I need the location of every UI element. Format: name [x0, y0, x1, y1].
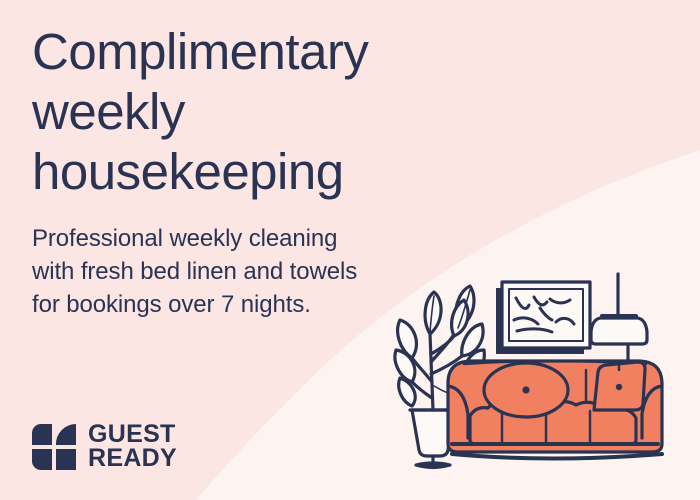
promo-banner: Complimentary weekly housekeeping Profes…: [0, 0, 700, 500]
round-cushion-icon: [484, 363, 568, 417]
guestready-wordmark: GUEST READY: [88, 423, 177, 470]
logo-line-2: READY: [88, 447, 177, 471]
guestready-square-mark-icon: [32, 424, 76, 470]
guestready-logo: GUEST READY: [32, 423, 177, 470]
page-title: Complimentary weekly housekeeping: [32, 22, 502, 202]
framed-picture-icon: [496, 282, 590, 354]
description-text: Professional weekly cleaning with fresh …: [32, 222, 502, 321]
sofa-icon: [448, 361, 662, 459]
pendant-lamp-icon: [591, 274, 647, 361]
logo-line-1: GUEST: [88, 423, 177, 447]
text-block: Complimentary weekly housekeeping Profes…: [32, 22, 502, 321]
square-pillow-icon: [594, 362, 645, 410]
